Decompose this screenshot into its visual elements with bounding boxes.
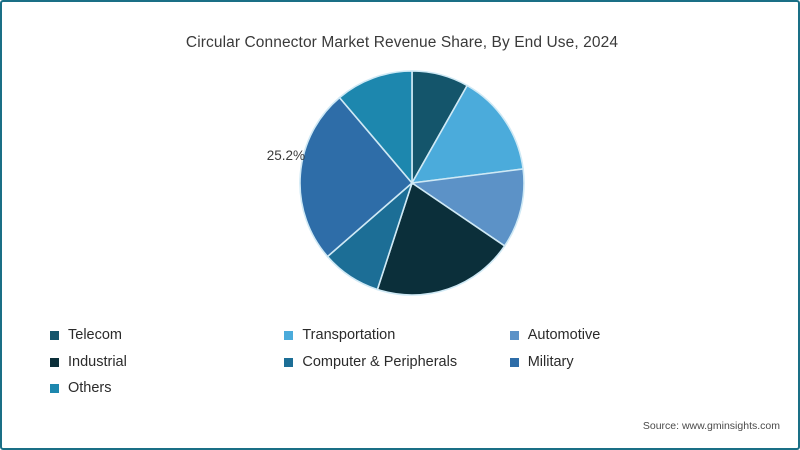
legend-item-computer-peripherals[interactable]: Computer & Peripherals [284, 355, 509, 370]
legend-item-others[interactable]: Others [50, 381, 310, 396]
legend-row: Industrial Computer & Peripherals Milita… [50, 355, 690, 370]
legend-swatch-icon [510, 358, 519, 367]
pie-svg [299, 70, 525, 296]
legend-swatch-icon [284, 358, 293, 367]
legend-row: Others [50, 381, 690, 396]
source-note: Source: www.gminsights.com [643, 420, 780, 432]
legend-swatch-icon [50, 384, 59, 393]
legend-swatch-icon [284, 331, 293, 340]
legend-label: Industrial [68, 355, 127, 370]
chart-figure: Circular Connector Market Revenue Share,… [0, 0, 800, 450]
legend-label: Automotive [528, 328, 601, 343]
legend-row: Telecom Transportation Automotive [50, 328, 690, 343]
chart-title: Circular Connector Market Revenue Share,… [2, 34, 800, 52]
legend-label: Computer & Peripherals [302, 355, 457, 370]
legend-label: Telecom [68, 328, 122, 343]
legend-item-military[interactable]: Military [510, 355, 690, 370]
legend-label: Military [528, 355, 574, 370]
legend-item-telecom[interactable]: Telecom [50, 328, 284, 343]
legend-item-industrial[interactable]: Industrial [50, 355, 284, 370]
pie-chart: 25.2% [299, 70, 525, 296]
legend-item-automotive[interactable]: Automotive [510, 328, 690, 343]
chart-legend: Telecom Transportation Automotive Indust… [50, 328, 690, 408]
legend-swatch-icon [50, 358, 59, 367]
slice-data-label-military: 25.2% [239, 148, 305, 163]
legend-swatch-icon [510, 331, 519, 340]
legend-item-transportation[interactable]: Transportation [284, 328, 509, 343]
legend-swatch-icon [50, 331, 59, 340]
pie-slice-group [300, 71, 524, 295]
legend-label: Transportation [302, 328, 395, 343]
legend-label: Others [68, 381, 112, 396]
